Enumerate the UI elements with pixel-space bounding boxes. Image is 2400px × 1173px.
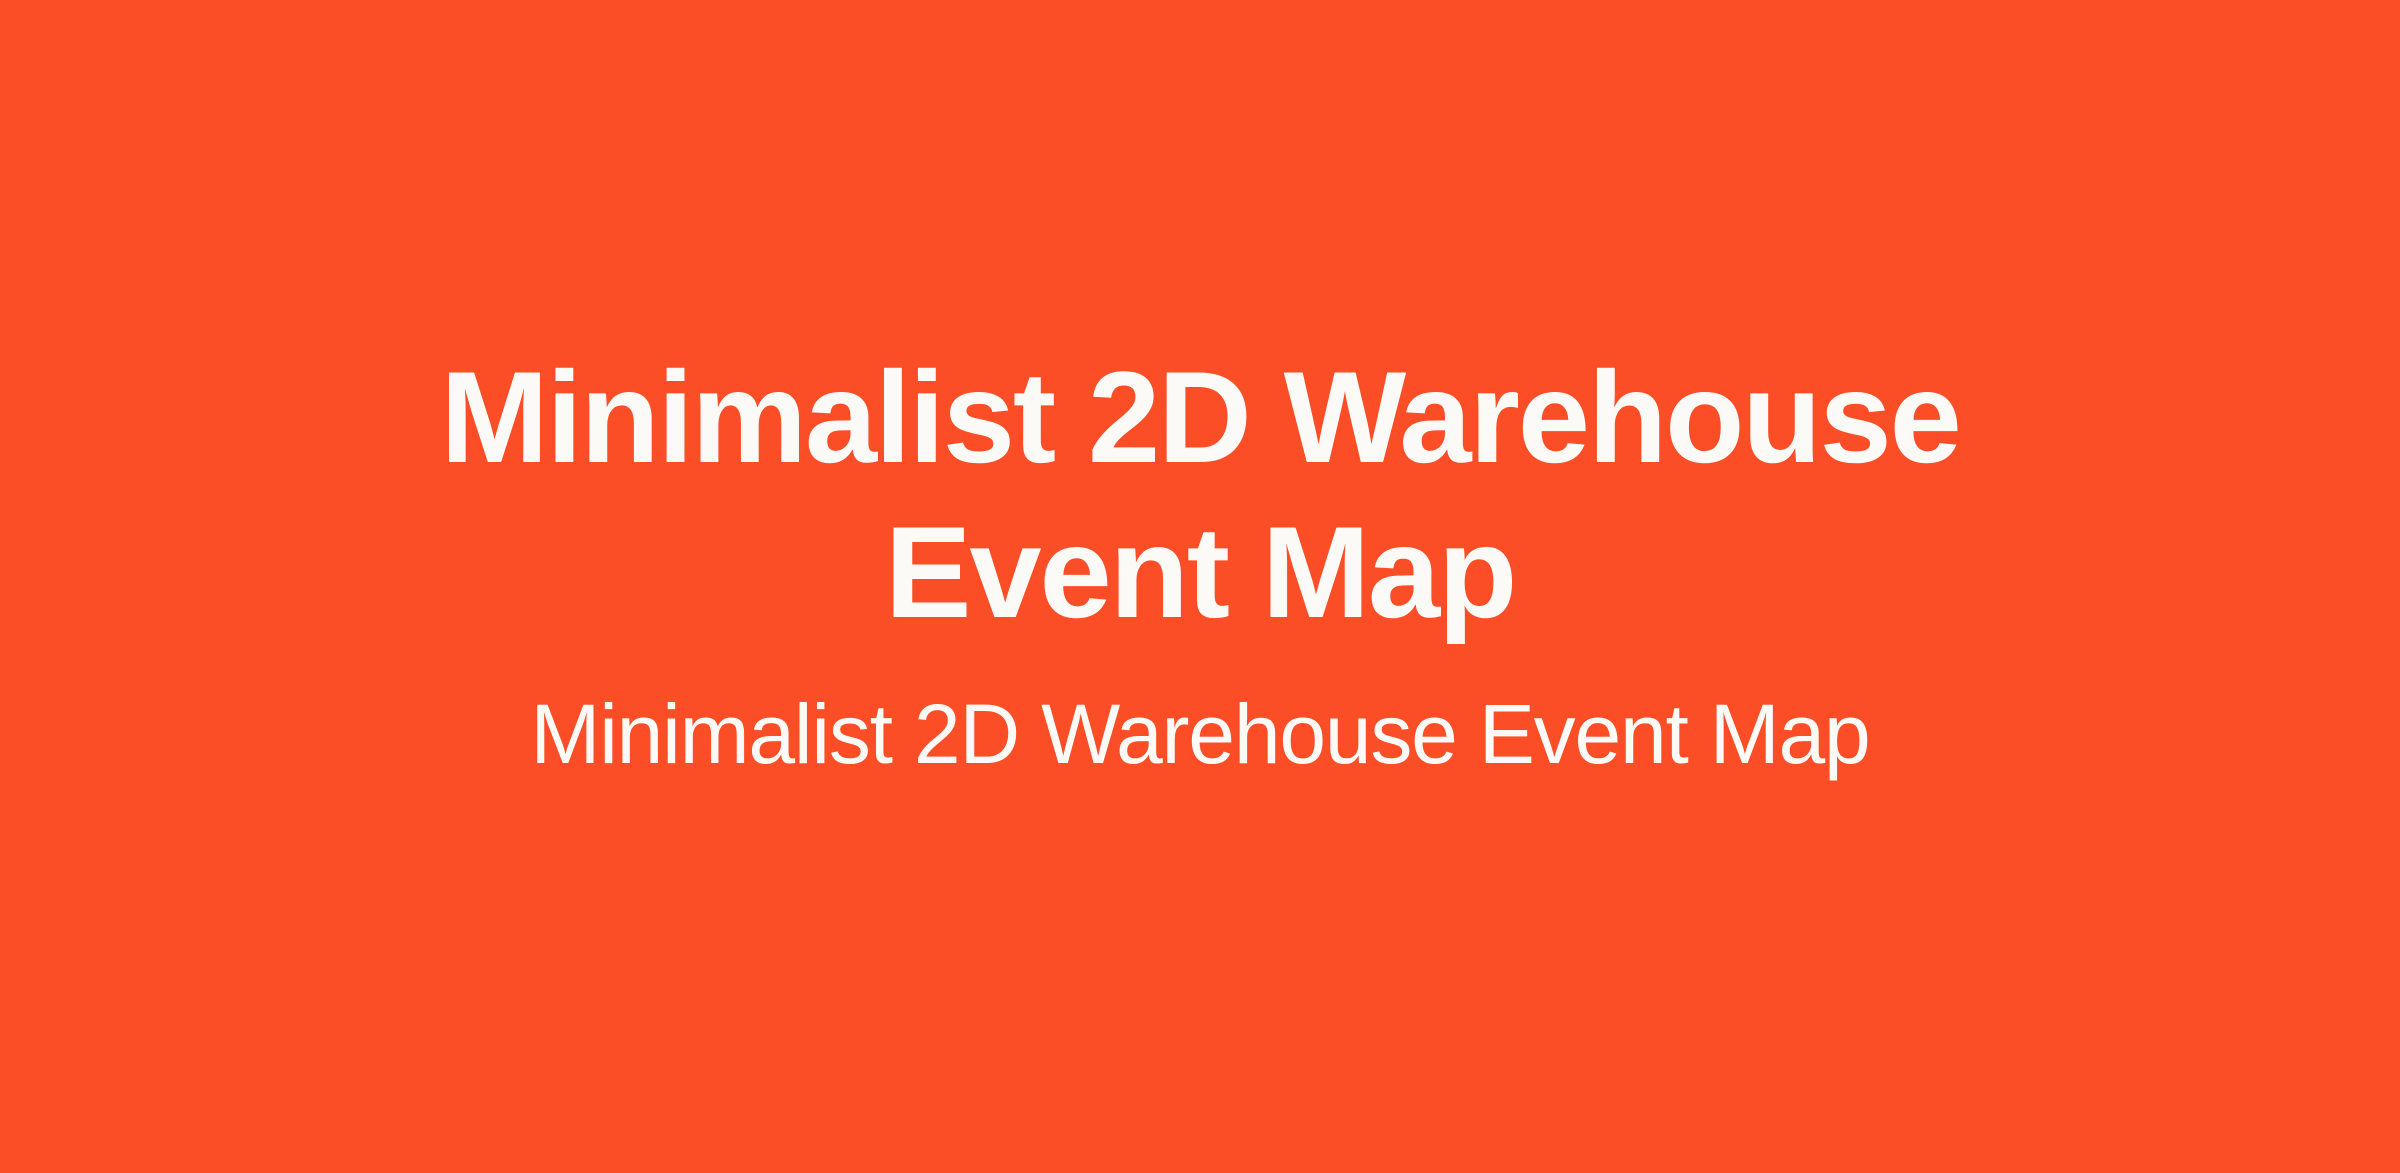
hero-content: Minimalist 2D Warehouse Event Map Minima… xyxy=(420,340,1980,784)
page-subtitle: Minimalist 2D Warehouse Event Map xyxy=(530,684,1869,785)
hero-card: Minimalist 2D Warehouse Event Map Minima… xyxy=(0,0,2400,1173)
page-title: Minimalist 2D Warehouse Event Map xyxy=(440,340,1960,649)
